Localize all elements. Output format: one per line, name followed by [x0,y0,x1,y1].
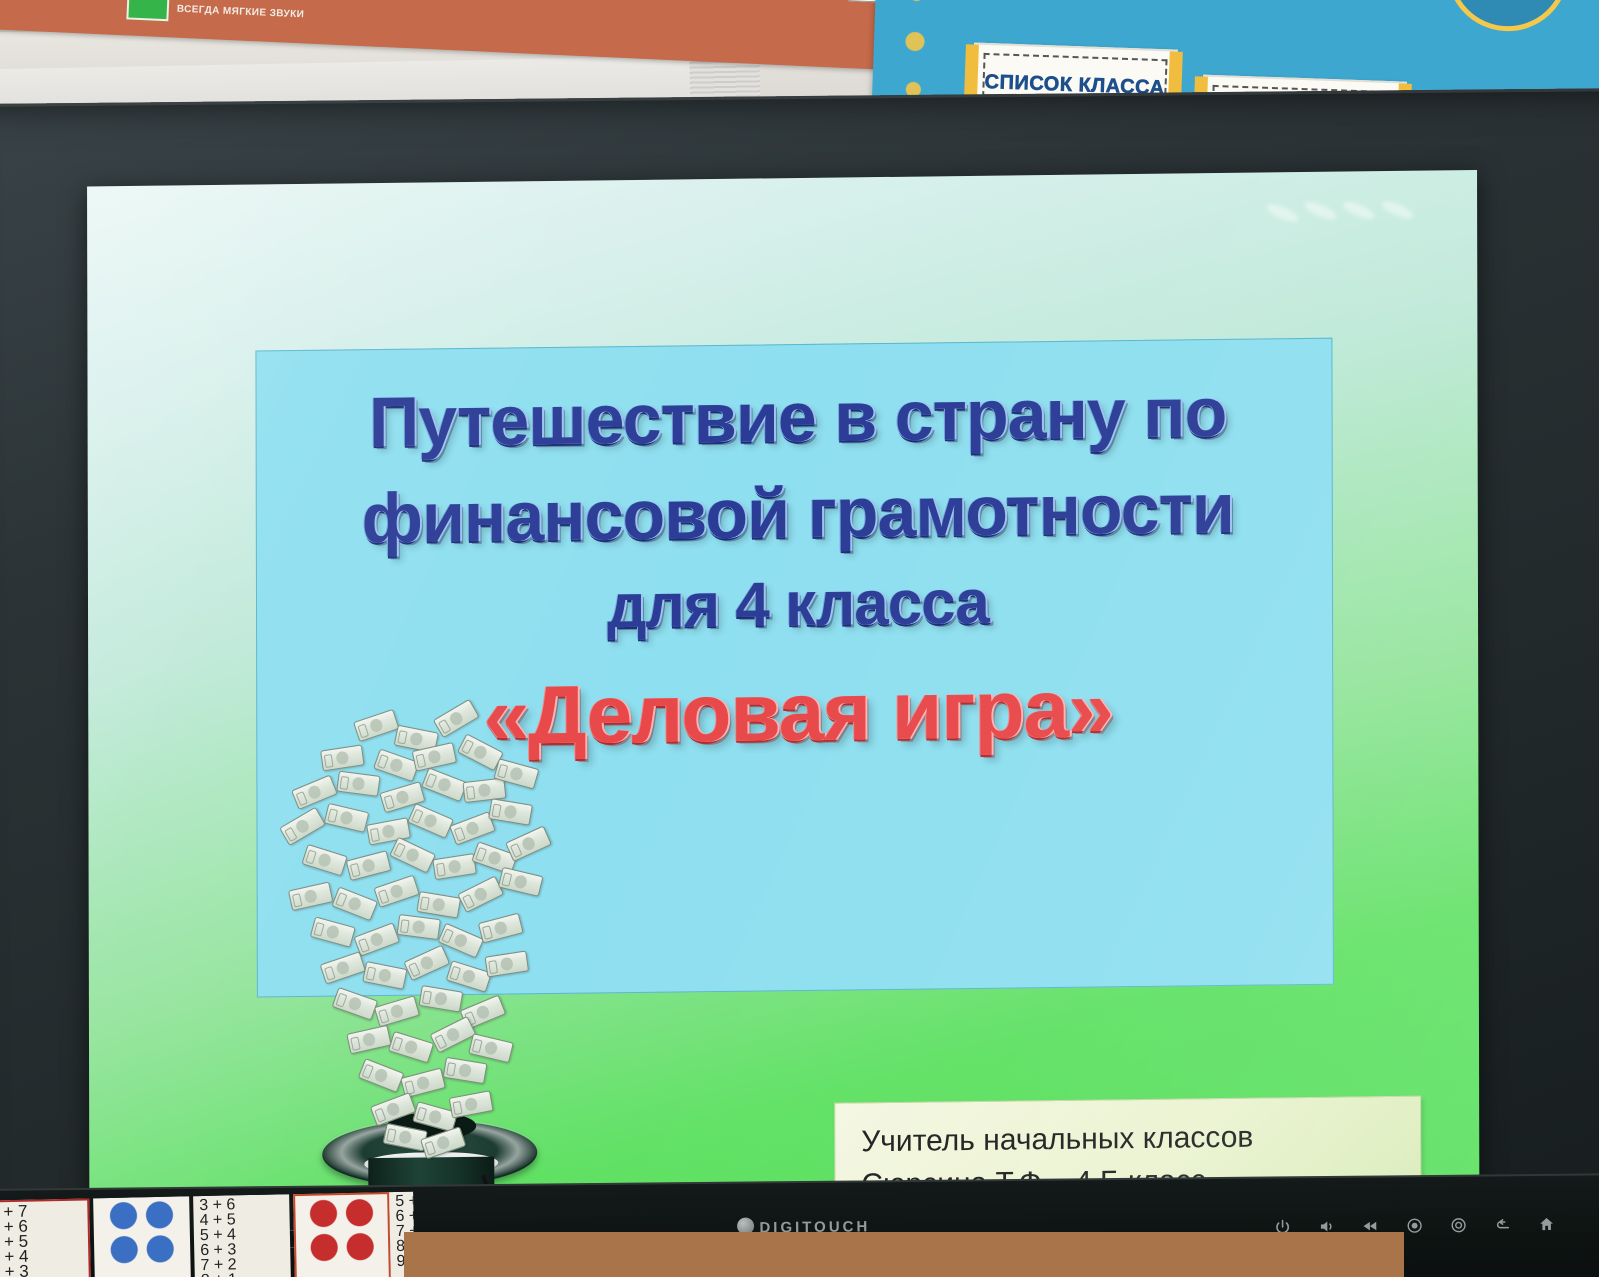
phonetics-label-2: ВСЕГДА МЯГКИЕ ЗВУКИ [177,4,305,21]
classroom-photo-scene: ВО ВТОРОМ РЯДУ ГЛУХИЕ СОГЛАСНЫЕ ЗВУКИ НЕ… [0,0,1599,1277]
dollar-bill [416,891,461,919]
dollar-bill [478,913,524,944]
dollar-bill [485,950,530,977]
dollar-bill [397,914,441,940]
dollar-bill [336,771,380,797]
dollar-bill [320,951,366,984]
dollar-bill [418,985,463,1013]
dollar-bill [353,709,399,742]
settings-icon[interactable] [1450,1217,1467,1234]
record-icon[interactable] [1406,1217,1423,1234]
dollar-bill [421,767,468,802]
dollar-bill [346,850,392,881]
dollar-bill [362,961,407,990]
dollar-bill [373,875,419,908]
chart-row: + 3 [4,1264,28,1277]
dollar-bill [388,1031,434,1064]
dollar-bill [310,916,356,947]
dollar-bill [488,798,533,826]
back-icon[interactable] [1494,1216,1511,1233]
chart-row: 6 + 3 [395,1208,414,1224]
dollar-bill [320,744,365,771]
dollar-bill [301,844,347,877]
dollar-bill [353,922,400,956]
title-line-1: Путешествие в страну по [268,372,1328,464]
dollar-bill [443,1057,488,1085]
dollar-bill [505,825,552,862]
dollar-bill [498,867,544,897]
dollar-bill [457,875,504,913]
dollar-bill [374,995,420,1027]
title-line-3: для 4 класса [268,563,1328,646]
dollar-bill [433,699,480,738]
dollar-bill [279,807,326,846]
presentation-slide: Путешествие в страну по финансовой грамо… [87,170,1479,1277]
home-icon[interactable] [1538,1216,1555,1233]
dollar-bill [403,945,450,982]
dollar-bill [407,803,454,839]
dollar-bill [449,1090,494,1118]
number-charts: + 7+ 6+ 5+ 4+ 3+ 2 3 + 64 + 55 + 46 + 37… [0,1192,415,1277]
interactive-whiteboard: Путешествие в страну по финансовой грамо… [0,88,1599,1277]
dollar-bill [332,987,379,1021]
dollar-bill [432,853,477,880]
blue-dots [103,1201,177,1277]
phonetics-green-chip [126,0,170,21]
dollar-bill [346,1025,391,1055]
credit-line-1: Учитель начальных классов [861,1121,1253,1160]
school-emblem: СШ №83 [1445,0,1571,33]
dollar-bill [389,837,436,874]
dollar-bill [468,1033,514,1063]
dollar-bill [331,886,378,921]
desk-surface [404,1232,1404,1277]
title-line-2: финансовой грамотности [268,468,1328,560]
chart-row: 5 + 4 [395,1193,415,1209]
chart-row: 8 + 1 [201,1272,237,1277]
dollar-bill [358,1058,405,1093]
red-dots [303,1198,379,1277]
dollar-bill [324,803,370,833]
dollar-bill [288,881,333,911]
